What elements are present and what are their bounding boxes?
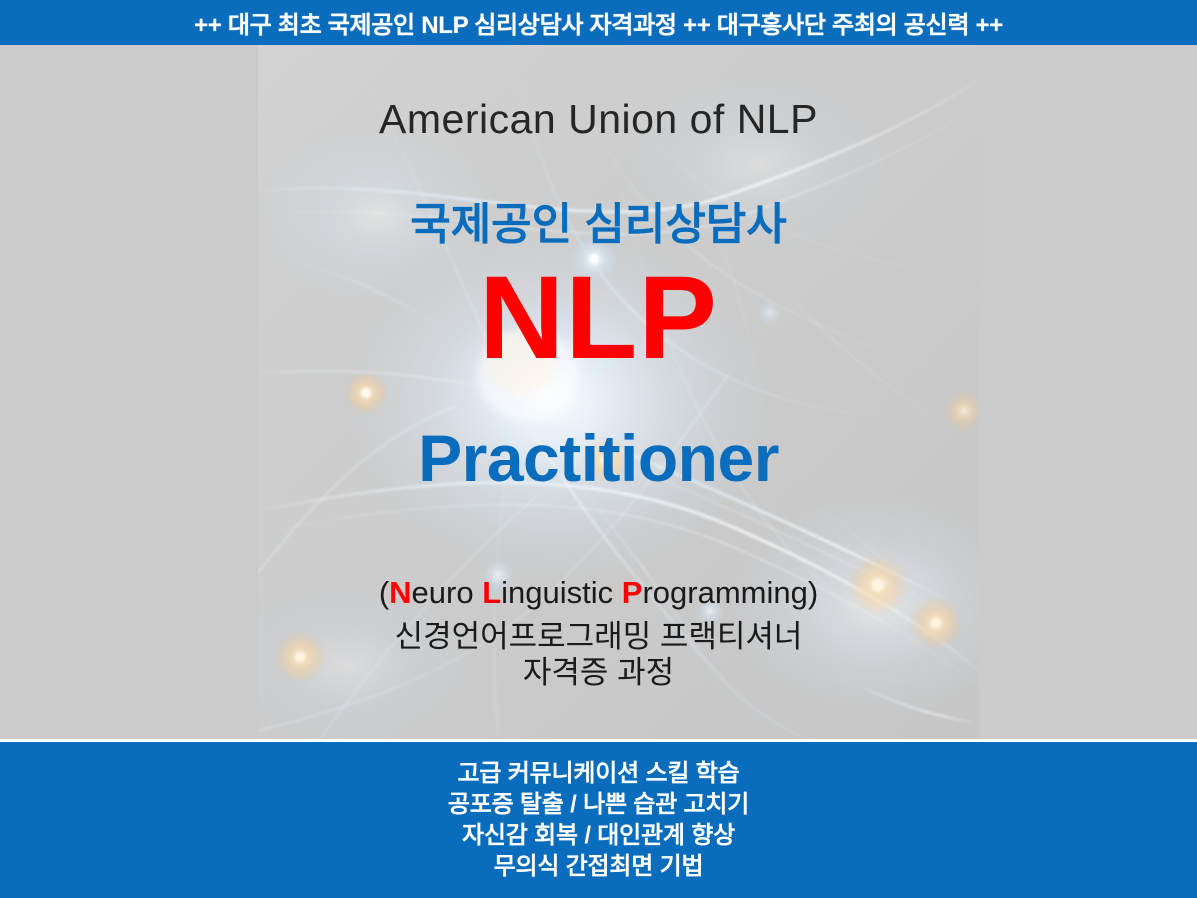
- korean-certification-title: 국제공인 심리상담사: [0, 188, 1197, 252]
- linguistic-rest: inguistic: [501, 575, 622, 610]
- acronym-expansion: (Neuro Linguistic Programming): [0, 575, 1197, 611]
- top-banner: ++ 대구 최초 국제공인 NLP 심리상담사 자격과정 ++ 대구흥사단 주최…: [0, 0, 1197, 45]
- paren-close: ): [808, 575, 818, 610]
- benefit-line: 무의식 간접최면 기법: [494, 851, 704, 882]
- neuro-rest: euro: [412, 575, 483, 610]
- programming-rest: rogramming: [642, 575, 807, 610]
- organization-title: American Union of NLP: [0, 96, 1197, 143]
- poster-content: American Union of NLP 국제공인 심리상담사 NLP Pra…: [0, 45, 1197, 742]
- benefit-line: 공포증 탈출 / 나쁜 습관 고치기: [448, 789, 749, 820]
- level-practitioner: Practitioner: [0, 420, 1197, 496]
- highlight-l: L: [482, 575, 501, 610]
- nlp-course-poster: ++ 대구 최초 국제공인 NLP 심리상담사 자격과정 ++ 대구흥사단 주최…: [0, 0, 1197, 898]
- korean-subtitle-line-2: 자격증 과정: [0, 647, 1197, 692]
- top-banner-text: ++ 대구 최초 국제공인 NLP 심리상담사 자격과정 ++ 대구흥사단 주최…: [194, 5, 1003, 40]
- paren-open: (: [379, 575, 389, 610]
- highlight-n: N: [389, 575, 411, 610]
- bottom-benefits-panel: 고급 커뮤니케이션 스킬 학습 공포증 탈출 / 나쁜 습관 고치기 자신감 회…: [0, 742, 1197, 898]
- benefit-line: 자신감 회복 / 대인관계 향상: [462, 820, 735, 851]
- acronym-nlp: NLP: [0, 257, 1197, 381]
- benefit-line: 고급 커뮤니케이션 스킬 학습: [458, 758, 740, 789]
- highlight-p: P: [622, 575, 643, 610]
